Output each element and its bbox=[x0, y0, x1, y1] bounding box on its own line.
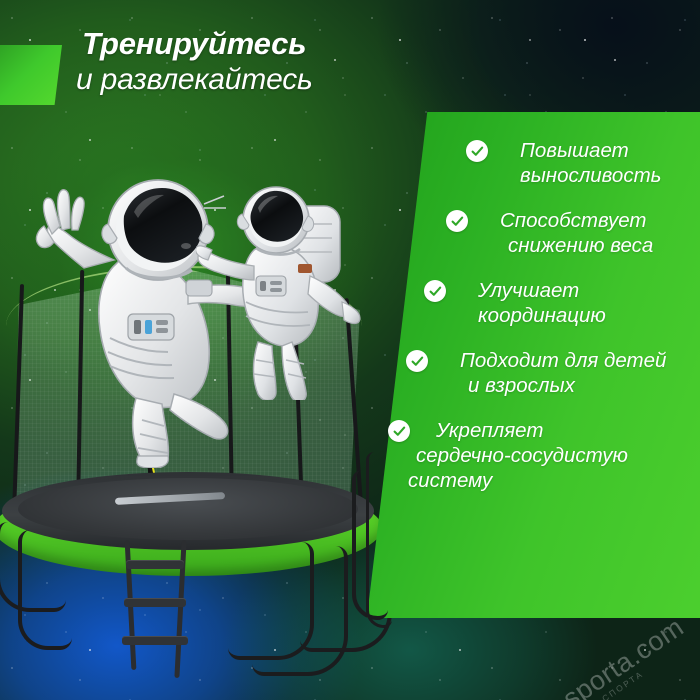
list-item-label: Подходит для детей и взрослых bbox=[406, 348, 699, 398]
promo-banner: Тренируйтесь и развлекайтесь bbox=[0, 0, 700, 700]
check-circle-icon bbox=[446, 210, 468, 232]
check-circle-icon bbox=[406, 350, 428, 372]
accent-shape bbox=[0, 45, 62, 105]
check-circle-icon bbox=[466, 140, 488, 162]
list-item-label: Способствует снижению веса bbox=[446, 208, 699, 258]
trampoline-mat bbox=[18, 478, 358, 540]
trampoline-leg bbox=[18, 530, 72, 650]
feature-line: Укрепляет bbox=[436, 418, 699, 443]
ladder-step bbox=[122, 636, 188, 645]
feature-line: координацию bbox=[478, 303, 699, 328]
feature-line: сердечно-сосудистую bbox=[416, 443, 699, 468]
feature-line: Подходит для детей bbox=[460, 348, 699, 373]
feature-line: снижению веса bbox=[500, 233, 699, 258]
title-line-1: Тренируйтесь bbox=[82, 28, 422, 61]
benefits-list: Повышает выносливость Способствует сниже… bbox=[360, 112, 700, 618]
feature-line: Повышает bbox=[520, 138, 699, 163]
feature-line: Способствует bbox=[500, 208, 699, 233]
feature-line: Улучшает bbox=[478, 278, 699, 303]
ladder-step bbox=[126, 560, 184, 569]
trampoline-leg-overlap bbox=[366, 452, 392, 628]
feature-line: и взрослых bbox=[460, 373, 699, 398]
page-title: Тренируйтесь и развлекайтесь bbox=[82, 28, 422, 96]
list-item: Улучшает координацию bbox=[424, 278, 699, 328]
check-circle-icon bbox=[424, 280, 446, 302]
ladder-step bbox=[124, 598, 186, 607]
title-line-2: и развлекайтесь bbox=[76, 64, 422, 96]
list-item: Способствует снижению веса bbox=[446, 208, 699, 258]
feature-line: систему bbox=[408, 468, 699, 493]
list-item: Укрепляет сердечно-сосудистую систему bbox=[388, 418, 699, 493]
list-item: Повышает выносливость bbox=[466, 138, 699, 188]
astronaut-background bbox=[196, 180, 376, 400]
check-circle-icon bbox=[388, 420, 410, 442]
list-item-label: Улучшает координацию bbox=[424, 278, 699, 328]
list-item-label: Повышает выносливость bbox=[466, 138, 699, 188]
list-item-label: Укрепляет сердечно-сосудистую систему bbox=[388, 418, 699, 493]
list-item: Подходит для детей и взрослых bbox=[406, 348, 699, 398]
feature-line: выносливость bbox=[520, 163, 699, 188]
